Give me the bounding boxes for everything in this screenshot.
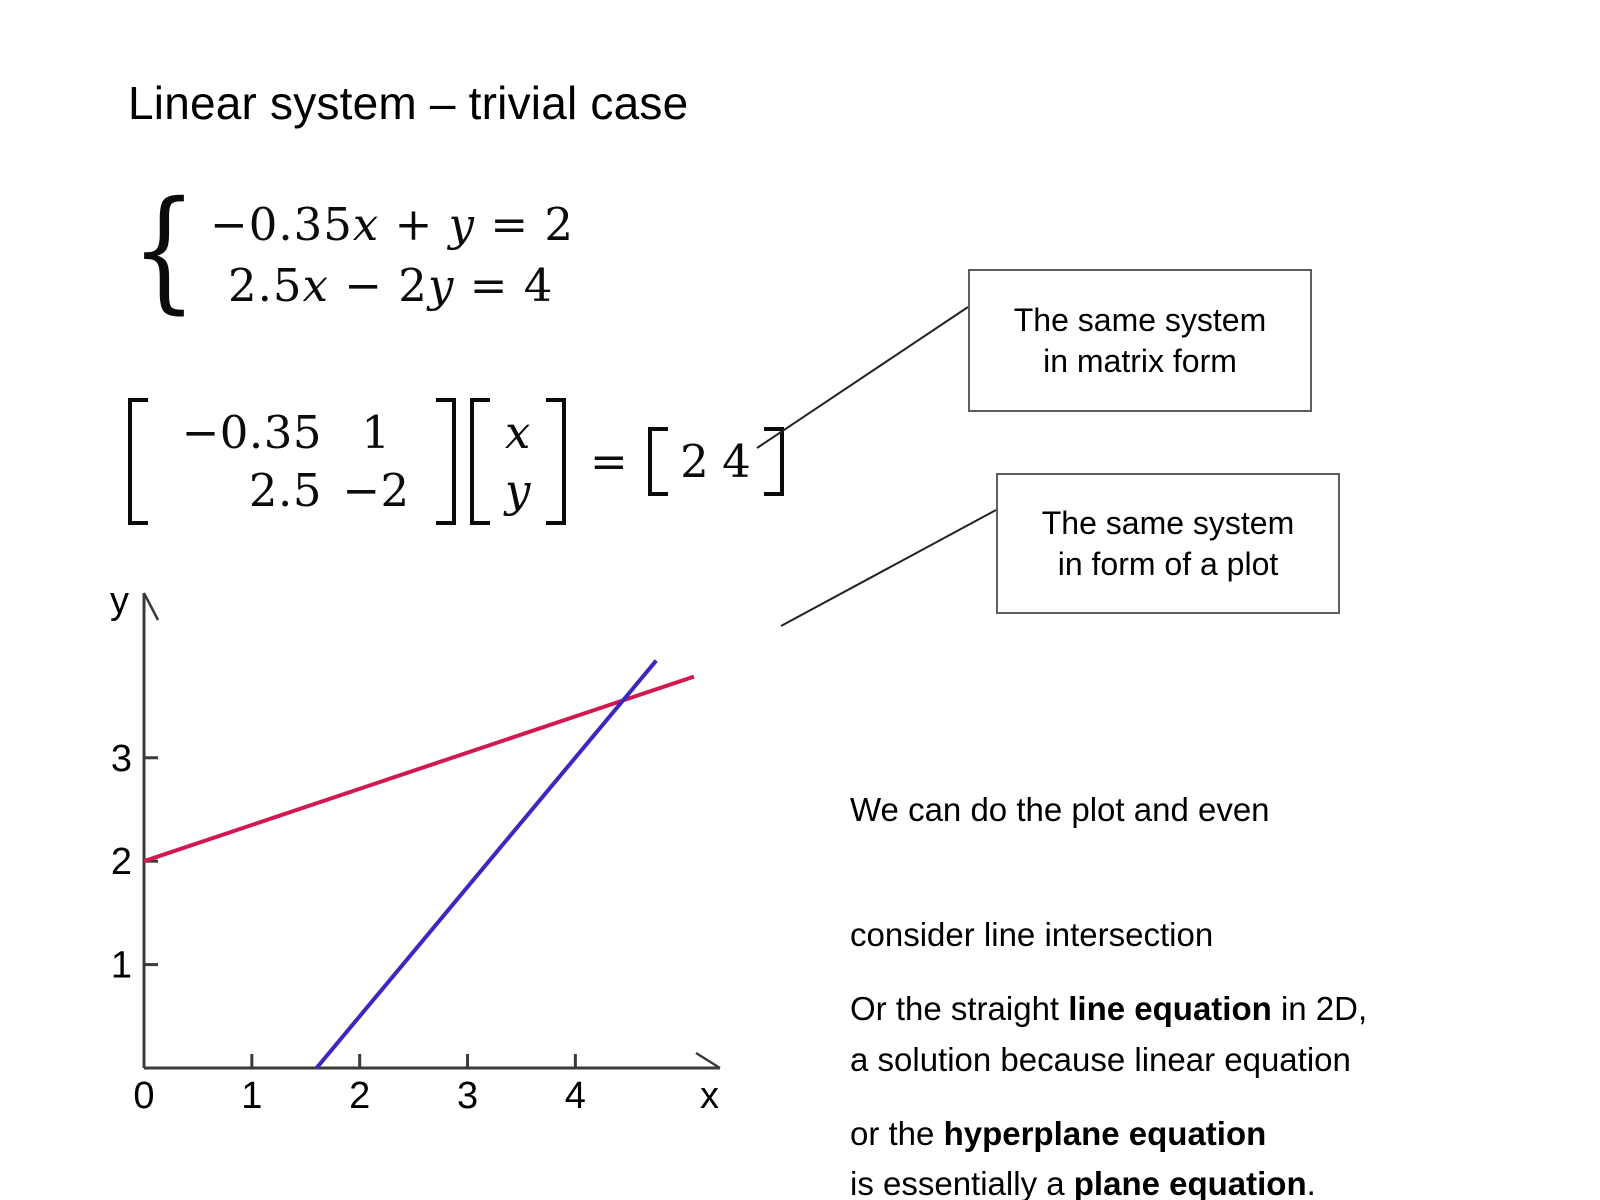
equation-matrix-form: −0.35 1 2.5 −2 x y = — [128, 398, 784, 525]
plot-ticks — [144, 758, 575, 1068]
matrix-row: −0.35 1 — [154, 404, 430, 462]
unknown-vector-cells: x y — [490, 398, 546, 525]
y-axis-label: y — [110, 580, 129, 622]
callout-plot-text: The same system in form of a plot — [1042, 503, 1295, 585]
bracket-right-icon — [546, 398, 566, 525]
callout-matrix-text: The same system in matrix form — [1014, 300, 1267, 382]
matrix-row: 2 4 — [674, 433, 758, 491]
bracket-left-icon — [128, 398, 148, 525]
para2-line2-bold: hyperplane equation — [944, 1115, 1267, 1152]
x-tick-label: 0 — [133, 1075, 154, 1115]
eq2-variable-x: x — [303, 259, 329, 312]
x-axis-arrow-icon — [696, 1053, 720, 1068]
eq2-rhs: 4 — [524, 259, 554, 312]
matrix-cell-a22: −2 — [322, 462, 430, 520]
matrix-row: y — [496, 462, 540, 520]
x-tick-label: 1 — [241, 1075, 262, 1115]
rhs-vector-cells: 2 4 — [668, 427, 764, 497]
matrix-cell-a21: 2.5 — [154, 462, 322, 520]
para2-line1-pre: Or the straight — [850, 990, 1068, 1027]
para2-line2-pre: or the — [850, 1115, 944, 1152]
bracket-right-icon — [436, 398, 456, 525]
bracket-left-icon — [648, 427, 668, 497]
vector-cell-y: y — [496, 462, 540, 520]
plot-line — [317, 661, 657, 1068]
slide-canvas: Linear system – trivial case { −0.35x + … — [0, 0, 1600, 1200]
eq2-coefficient: 2.5 — [228, 259, 303, 312]
para2-line1-bold: line equation — [1068, 990, 1272, 1027]
bracket-left-icon — [470, 398, 490, 525]
callout-plot-form[interactable]: The same system in form of a plot — [996, 473, 1340, 614]
callout-matrix-line-2: in matrix form — [1014, 341, 1267, 382]
equation-line-2: 2.5x − 2y = 4 — [210, 259, 574, 312]
rhs-vector: 2 4 — [648, 427, 784, 497]
vector-cell-x: x — [496, 404, 540, 462]
para1-line-1: We can do the plot and even — [850, 789, 1470, 831]
curly-brace-icon: { — [131, 194, 197, 308]
callout-plot-line-1: The same system — [1042, 503, 1295, 544]
matrix-row: x — [496, 404, 540, 462]
matrix-row: 2.5 −2 — [154, 462, 430, 520]
callout-matrix-form[interactable]: The same system in matrix form — [968, 269, 1312, 412]
y-tick-label: 3 — [111, 738, 132, 780]
eq2-variable-y: y — [428, 259, 454, 312]
coefficient-matrix-cells: −0.35 1 2.5 −2 — [148, 398, 436, 525]
x-axis-label: x — [700, 1075, 719, 1115]
y-tick-label: 2 — [111, 841, 132, 883]
para2-line1-post: in 2D, — [1272, 990, 1367, 1027]
plot-series — [144, 661, 694, 1068]
coefficient-matrix: −0.35 1 2.5 −2 — [128, 398, 456, 525]
eq1-rhs: 2 — [544, 198, 574, 251]
leader-line-plot — [781, 510, 996, 626]
para2-line-1: Or the straight line equation in 2D, — [850, 988, 1470, 1030]
plot-svg: 01234123 y x — [100, 575, 760, 1115]
matrix-cell-a12: 1 — [322, 404, 430, 462]
eq1-operator: + — [395, 198, 434, 251]
callout-matrix-line-1: The same system — [1014, 300, 1267, 341]
paragraph-line-equation: Or the straight line equation in 2D, or … — [850, 905, 1470, 1200]
x-tick-label: 4 — [565, 1075, 586, 1115]
eq1-coefficient: −0.35 — [210, 198, 353, 251]
rhs-cell-2: 4 — [716, 433, 758, 491]
matrix-cell-a11: −0.35 — [154, 404, 322, 462]
equation-line-1: −0.35x + y = 2 — [210, 198, 574, 251]
unknown-vector: x y — [470, 398, 566, 525]
plot-line — [144, 677, 694, 862]
leader-line-matrix — [757, 307, 968, 448]
eq1-equals: = — [490, 198, 529, 251]
x-tick-label: 3 — [457, 1075, 478, 1115]
para2-line-2: or the hyperplane equation — [850, 1113, 1470, 1155]
eq2-equals: = — [470, 259, 509, 312]
y-tick-label: 1 — [111, 945, 132, 987]
eq1-variable-x: x — [353, 198, 379, 251]
bracket-right-icon — [764, 427, 784, 497]
eq2-coefficient-2: 2 — [398, 259, 428, 312]
line-plot: 01234123 y x — [100, 575, 760, 1115]
callout-plot-line-2: in form of a plot — [1042, 544, 1295, 585]
matrix-equals-sign: = — [580, 435, 634, 488]
equation-system-lines: −0.35x + y = 2 2.5x − 2y = 4 — [210, 198, 574, 312]
equation-system: { −0.35x + y = 2 2.5x − 2y = 4 — [122, 198, 574, 312]
x-tick-label: 2 — [349, 1075, 370, 1115]
eq2-operator: − — [344, 259, 383, 312]
eq1-variable-y: y — [449, 198, 475, 251]
rhs-cell-1: 2 — [674, 433, 716, 491]
page-title: Linear system – trivial case — [128, 80, 688, 126]
y-axis-arrow-icon — [144, 593, 158, 620]
